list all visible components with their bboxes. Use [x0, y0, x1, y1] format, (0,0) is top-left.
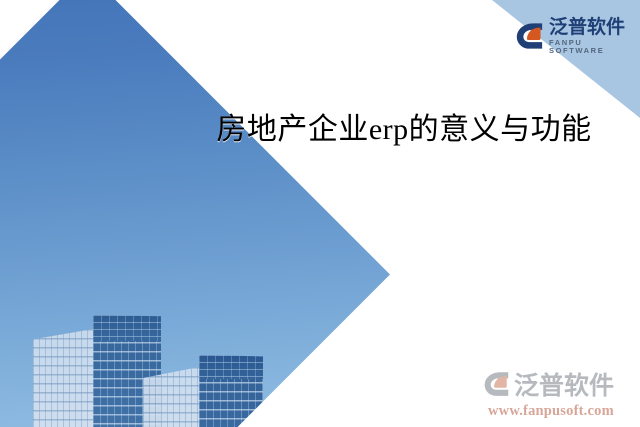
slide-title: 房地产企业erp的意义与功能	[188, 108, 620, 152]
window-grid-crown	[199, 355, 263, 379]
watermark-brand-cn: 泛普软件	[514, 366, 614, 402]
skyscraper-front	[143, 355, 263, 427]
watermark-url: www.fanpusoft.com	[488, 403, 614, 420]
skyscraper-back	[33, 315, 161, 427]
skyscraper-front-light-face	[143, 367, 199, 427]
watermark-brand-row: 泛普软件	[482, 366, 614, 402]
blue-diamond-shape	[0, 0, 390, 427]
slide-canvas: 房地产企业erp的意义与功能 泛普软件 FANPU SOFTWARE 泛普软件 …	[0, 0, 640, 427]
header-logo-wordmark: 泛普软件 FANPU SOFTWARE	[549, 18, 640, 54]
watermark: 泛普软件 www.fanpusoft.com	[482, 366, 614, 420]
fanpu-logo-icon	[514, 21, 544, 51]
window-grid-light	[33, 329, 93, 427]
skyscraper-front-crown	[199, 355, 263, 379]
window-grid-crown	[93, 315, 161, 341]
header-logo: 泛普软件 FANPU SOFTWARE	[514, 18, 640, 54]
header-logo-brand-en: FANPU SOFTWARE	[549, 39, 640, 54]
skyscraper-back-crown	[93, 315, 161, 341]
header-logo-brand-cn: 泛普软件	[549, 18, 640, 37]
window-grid-light	[143, 367, 199, 427]
fanpu-watermark-logo-icon	[482, 370, 510, 398]
skyscraper-back-light-face	[33, 329, 93, 427]
